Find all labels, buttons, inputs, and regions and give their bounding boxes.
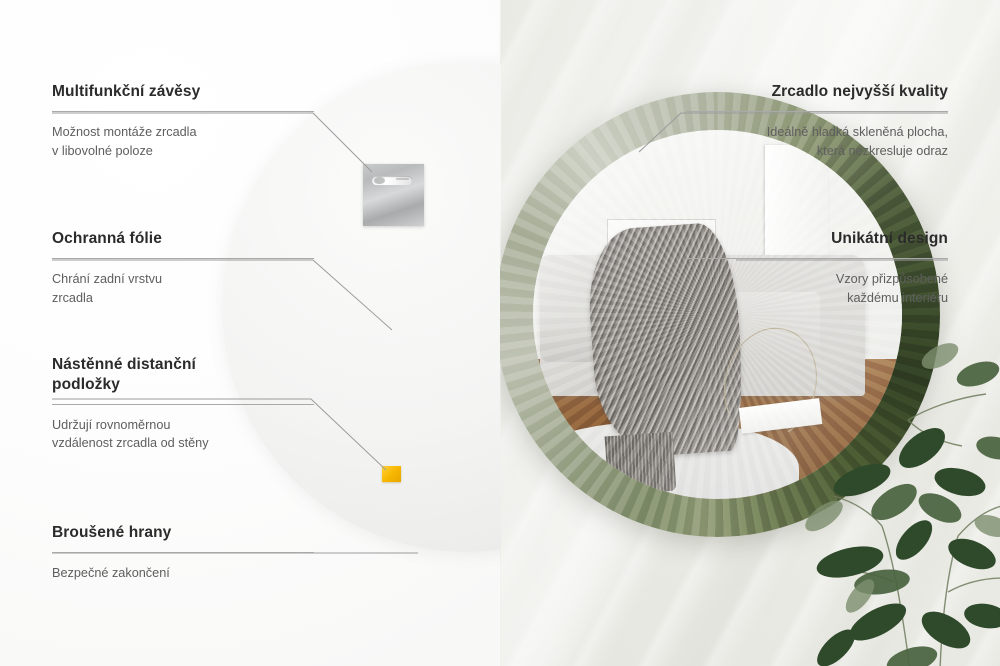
- callout-body-line: zrcadla: [52, 291, 93, 305]
- callout-title: Ochranná fólie: [52, 229, 314, 249]
- callout-rule: [52, 258, 314, 259]
- callout-title: Broušené hrany: [52, 523, 314, 543]
- callout-ochranna-folie: Ochranná fólie Chrání zadní vrstvu zrcad…: [52, 229, 314, 307]
- callout-body-line: každému interiéru: [847, 291, 948, 305]
- callout-rule: [52, 404, 314, 405]
- callout-rule: [686, 111, 948, 112]
- callout-title: Multifunkční závěsy: [52, 82, 314, 102]
- callout-body-line: Ideálně hladká skleněná plocha,: [767, 125, 948, 139]
- reflection-rug: [533, 422, 799, 499]
- reflection-papers: [738, 398, 822, 434]
- callout-rule: [52, 111, 314, 112]
- callout-body-line: Možnost montáže zrcadla: [52, 125, 197, 139]
- callout-body-line: Chrání zadní vrstvu: [52, 272, 162, 286]
- callout-unikatni-design: Unikátní design Vzory přizpůsobené každé…: [686, 229, 948, 307]
- callout-body-line: která nezkresluje odraz: [817, 144, 948, 158]
- reflection-floor: [533, 359, 902, 499]
- callout-zrcadlo-kvalita: Zrcadlo nejvyšší kvality Ideálně hladká …: [686, 82, 948, 160]
- callout-distancni-podlozky: Nástěnné distanční podložky Udržují rovn…: [52, 355, 314, 453]
- callout-title-line: podložky: [52, 376, 120, 393]
- callout-rule: [52, 552, 314, 553]
- callout-title: Zrcadlo nejvyšší kvality: [686, 82, 948, 102]
- callout-body-line: Bezpečné zakončení: [52, 566, 170, 580]
- callout-rule: [686, 258, 948, 259]
- callout-body: Vzory přizpůsobené každému interiéru: [686, 270, 948, 307]
- mirror-glass: [533, 130, 902, 499]
- callout-body-line: Vzory přizpůsobené: [836, 272, 948, 286]
- callout-body: Možnost montáže zrcadla v libovolné polo…: [52, 123, 314, 160]
- callout-brousene-hrany: Broušené hrany Bezpečné zakončení: [52, 523, 314, 583]
- callout-title: Unikátní design: [686, 229, 948, 249]
- callout-multifunkcni-zavesy: Multifunkční závěsy Možnost montáže zrca…: [52, 82, 314, 160]
- callout-body-line: v libovolné poloze: [52, 144, 153, 158]
- callout-body: Bezpečné zakončení: [52, 564, 314, 583]
- hanger-plate-icon: [363, 164, 424, 226]
- callout-body-line: vzdálenost zrcadla od stěny: [52, 436, 209, 450]
- infographic-canvas: Multifunkční závěsy Možnost montáže zrca…: [0, 0, 1000, 666]
- callout-title: Nástěnné distanční podložky: [52, 355, 314, 395]
- mirror-gloss-overlay: [533, 130, 902, 499]
- callout-body-line: Udržují rovnoměrnou: [52, 418, 170, 432]
- keyhole-slot-icon: [372, 176, 412, 185]
- callout-body: Ideálně hladká skleněná plocha, která ne…: [686, 123, 948, 160]
- spacer-pad-icon: [382, 466, 401, 482]
- callout-title-line: Nástěnné distanční: [52, 356, 196, 373]
- reflection-hoop-chair: [711, 317, 829, 450]
- callout-body: Udržují rovnoměrnou vzdálenost zrcadla o…: [52, 416, 314, 453]
- callout-body: Chrání zadní vrstvu zrcadla: [52, 270, 314, 307]
- reflection-sofa-arm: [540, 320, 598, 362]
